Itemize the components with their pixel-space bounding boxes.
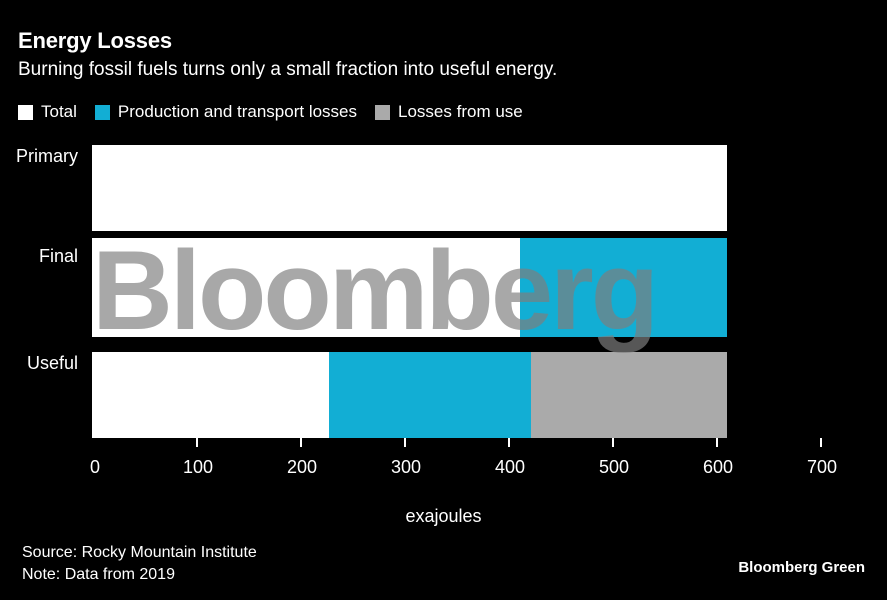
category-label-primary: Primary — [0, 145, 92, 167]
legend-label-losses-from-use: Losses from use — [398, 102, 523, 122]
plot-area: Primary Final Useful — [0, 140, 887, 445]
legend-item-total[interactable]: Total — [18, 102, 77, 122]
bar-segment-production-transport-losses-useful[interactable] — [329, 352, 531, 438]
x-axis-tick — [508, 438, 510, 447]
x-axis-tick-label: 700 — [807, 456, 837, 478]
legend-item-losses-from-use[interactable]: Losses from use — [375, 102, 523, 122]
bar-segment-losses-from-use-useful[interactable] — [531, 352, 727, 438]
category-label-final: Final — [0, 245, 92, 267]
bloomberg-green-brand: Bloomberg Green — [738, 558, 865, 578]
x-axis-title: exajoules — [0, 505, 887, 527]
legend-swatch-losses-from-use — [375, 105, 390, 120]
x-axis-tick-label: 400 — [495, 456, 525, 478]
x-axis-tick-label: 600 — [703, 456, 733, 478]
x-axis-tick-label: 100 — [183, 456, 213, 478]
x-axis-tick-label: 500 — [599, 456, 629, 478]
footer-note: Note: Data from 2019 — [22, 564, 257, 586]
legend-item-production-transport-losses[interactable]: Production and transport losses — [95, 102, 357, 122]
chart-subtitle: Burning fossil fuels turns only a small … — [18, 58, 557, 82]
legend-swatch-total — [18, 105, 33, 120]
x-axis-tick-label: 300 — [391, 456, 421, 478]
chart-title: Energy Losses — [18, 28, 172, 54]
x-axis-tick — [820, 438, 822, 447]
legend-label-production-transport-losses: Production and transport losses — [118, 102, 357, 122]
bar-segment-total-useful[interactable] — [92, 352, 329, 438]
chart-container: Energy Losses Burning fossil fuels turns… — [0, 0, 887, 600]
legend-swatch-production-transport-losses — [95, 105, 110, 120]
x-axis-tick — [612, 438, 614, 447]
x-axis-tick — [716, 438, 718, 447]
category-label-useful: Useful — [0, 352, 92, 374]
x-axis-tick — [404, 438, 406, 447]
footer-source: Source: Rocky Mountain Institute — [22, 542, 257, 564]
x-axis-tick — [300, 438, 302, 447]
bar-segment-production-transport-losses-final[interactable] — [520, 238, 727, 337]
legend-label-total: Total — [41, 102, 77, 122]
x-axis-tick-label: 0 — [90, 456, 100, 478]
x-axis-tick — [196, 438, 198, 447]
bar-segment-total-primary[interactable] — [92, 145, 727, 231]
x-axis: 0 100 200 300 400 500 600 700 — [0, 438, 887, 498]
x-axis-tick-label: 200 — [287, 456, 317, 478]
footer-notes: Source: Rocky Mountain Institute Note: D… — [22, 542, 257, 586]
chart-legend: Total Production and transport losses Lo… — [18, 100, 541, 124]
bar-segment-total-final[interactable] — [92, 238, 520, 337]
